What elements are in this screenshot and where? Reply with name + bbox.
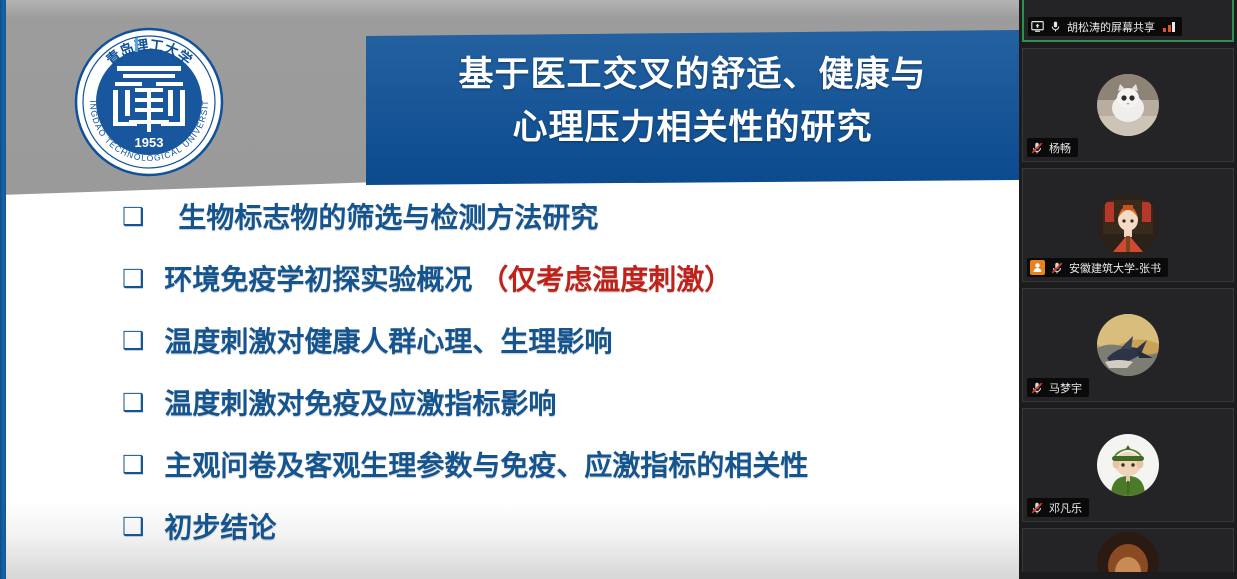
square-bullet-icon: ❑	[122, 453, 144, 478]
list-item-label: 初步结论	[164, 506, 276, 546]
nameplate: 邓凡乐	[1027, 498, 1089, 517]
list-item: ❑ 温度刺激对健康人群心理、生理影响	[0, 320, 1019, 382]
slide-bullet-list: ❑ 生物标志物的筛选与检测方法研究 ❑ 环境免疫学初探实验概况 （仅考虑温度刺激…	[0, 196, 1019, 568]
list-item: ❑ 温度刺激对免疫及应激指标影响	[0, 382, 1019, 444]
microphone-muted-icon	[1030, 141, 1044, 155]
list-item-label: 生物标志物的筛选与检测方法研究	[178, 196, 598, 236]
university-seal-logo: 1953 青岛理工大学 QINGDAO TECHNOLOGICAL UNIVER…	[73, 26, 225, 178]
tile-screen-share[interactable]: 胡松涛的屏幕共享	[1022, 0, 1234, 42]
nameplate: 胡松涛的屏幕共享	[1028, 17, 1182, 36]
participant-name: 马梦宇	[1049, 380, 1082, 396]
slide-title-band: 基于医工交叉的舒适、健康与 心理压力相关性的研究	[366, 30, 1019, 185]
microphone-muted-icon	[1030, 501, 1044, 515]
signal-bars-icon	[1163, 21, 1175, 32]
page-title: 基于医工交叉的舒适、健康与 心理压力相关性的研究	[366, 48, 1019, 154]
participant-name: 安徽建筑大学-张书	[1069, 260, 1161, 276]
tile-participant-3[interactable]: 马梦宇	[1022, 288, 1234, 402]
title-line-1: 基于医工交叉的舒适、健康与	[366, 48, 1019, 101]
list-item-text: 环境免疫学初探实验概况	[164, 264, 480, 295]
avatar	[1097, 194, 1159, 256]
microphone-muted-icon	[1050, 261, 1064, 275]
tile-participant-4[interactable]: 邓凡乐	[1022, 408, 1234, 522]
square-bullet-icon: ❑	[122, 267, 144, 292]
list-item: ❑ 初步结论	[0, 506, 1019, 568]
microphone-muted-icon	[1030, 381, 1044, 395]
tile-participant-5[interactable]	[1022, 528, 1234, 572]
list-item-emphasis: （仅考虑温度刺激）	[480, 264, 732, 295]
list-item-label: 主观问卷及客观生理参数与免疫、应激指标的相关性	[164, 444, 808, 484]
nameplate: 杨畅	[1027, 138, 1078, 157]
square-bullet-icon: ❑	[122, 391, 144, 416]
avatar	[1097, 74, 1159, 136]
nameplate: 马梦宇	[1027, 378, 1089, 397]
list-item: ❑ 生物标志物的筛选与检测方法研究	[0, 196, 1019, 258]
title-line-2: 心理压力相关性的研究	[366, 101, 1019, 154]
text-cursor-artifact	[135, 38, 138, 52]
list-item: ❑ 环境免疫学初探实验概况 （仅考虑温度刺激）	[0, 258, 1019, 320]
host-badge-icon	[1030, 260, 1045, 275]
square-bullet-icon: ❑	[122, 515, 144, 540]
square-bullet-icon: ❑	[122, 205, 144, 230]
participant-name: 邓凡乐	[1049, 500, 1082, 516]
avatar	[1097, 434, 1159, 496]
participant-name: 杨畅	[1049, 140, 1071, 156]
avatar	[1097, 314, 1159, 376]
participant-filmstrip[interactable]: 胡松涛的屏幕共享	[1019, 0, 1237, 579]
list-item: ❑ 主观问卷及客观生理参数与免疫、应激指标的相关性	[0, 444, 1019, 506]
list-item-label: 环境免疫学初探实验概况 （仅考虑温度刺激）	[164, 258, 732, 298]
tile-participant-2[interactable]: 安徽建筑大学-张书	[1022, 168, 1234, 282]
square-bullet-icon: ❑	[122, 329, 144, 354]
slide-left-accent-bar	[0, 0, 6, 579]
seal-year: 1953	[135, 135, 164, 150]
shared-slide[interactable]: 基于医工交叉的舒适、健康与 心理压力相关性的研究	[0, 0, 1019, 579]
meeting-screen-share-view: 基于医工交叉的舒适、健康与 心理压力相关性的研究	[0, 0, 1237, 579]
microphone-icon	[1049, 20, 1062, 33]
screen-share-label: 胡松涛的屏幕共享	[1067, 19, 1155, 35]
screen-share-icon	[1031, 20, 1044, 33]
tile-participant-1[interactable]: 杨畅	[1022, 48, 1234, 162]
nameplate: 安徽建筑大学-张书	[1027, 258, 1168, 277]
list-item-label: 温度刺激对健康人群心理、生理影响	[164, 320, 612, 360]
list-item-label: 温度刺激对免疫及应激指标影响	[164, 382, 556, 422]
avatar	[1097, 532, 1159, 572]
